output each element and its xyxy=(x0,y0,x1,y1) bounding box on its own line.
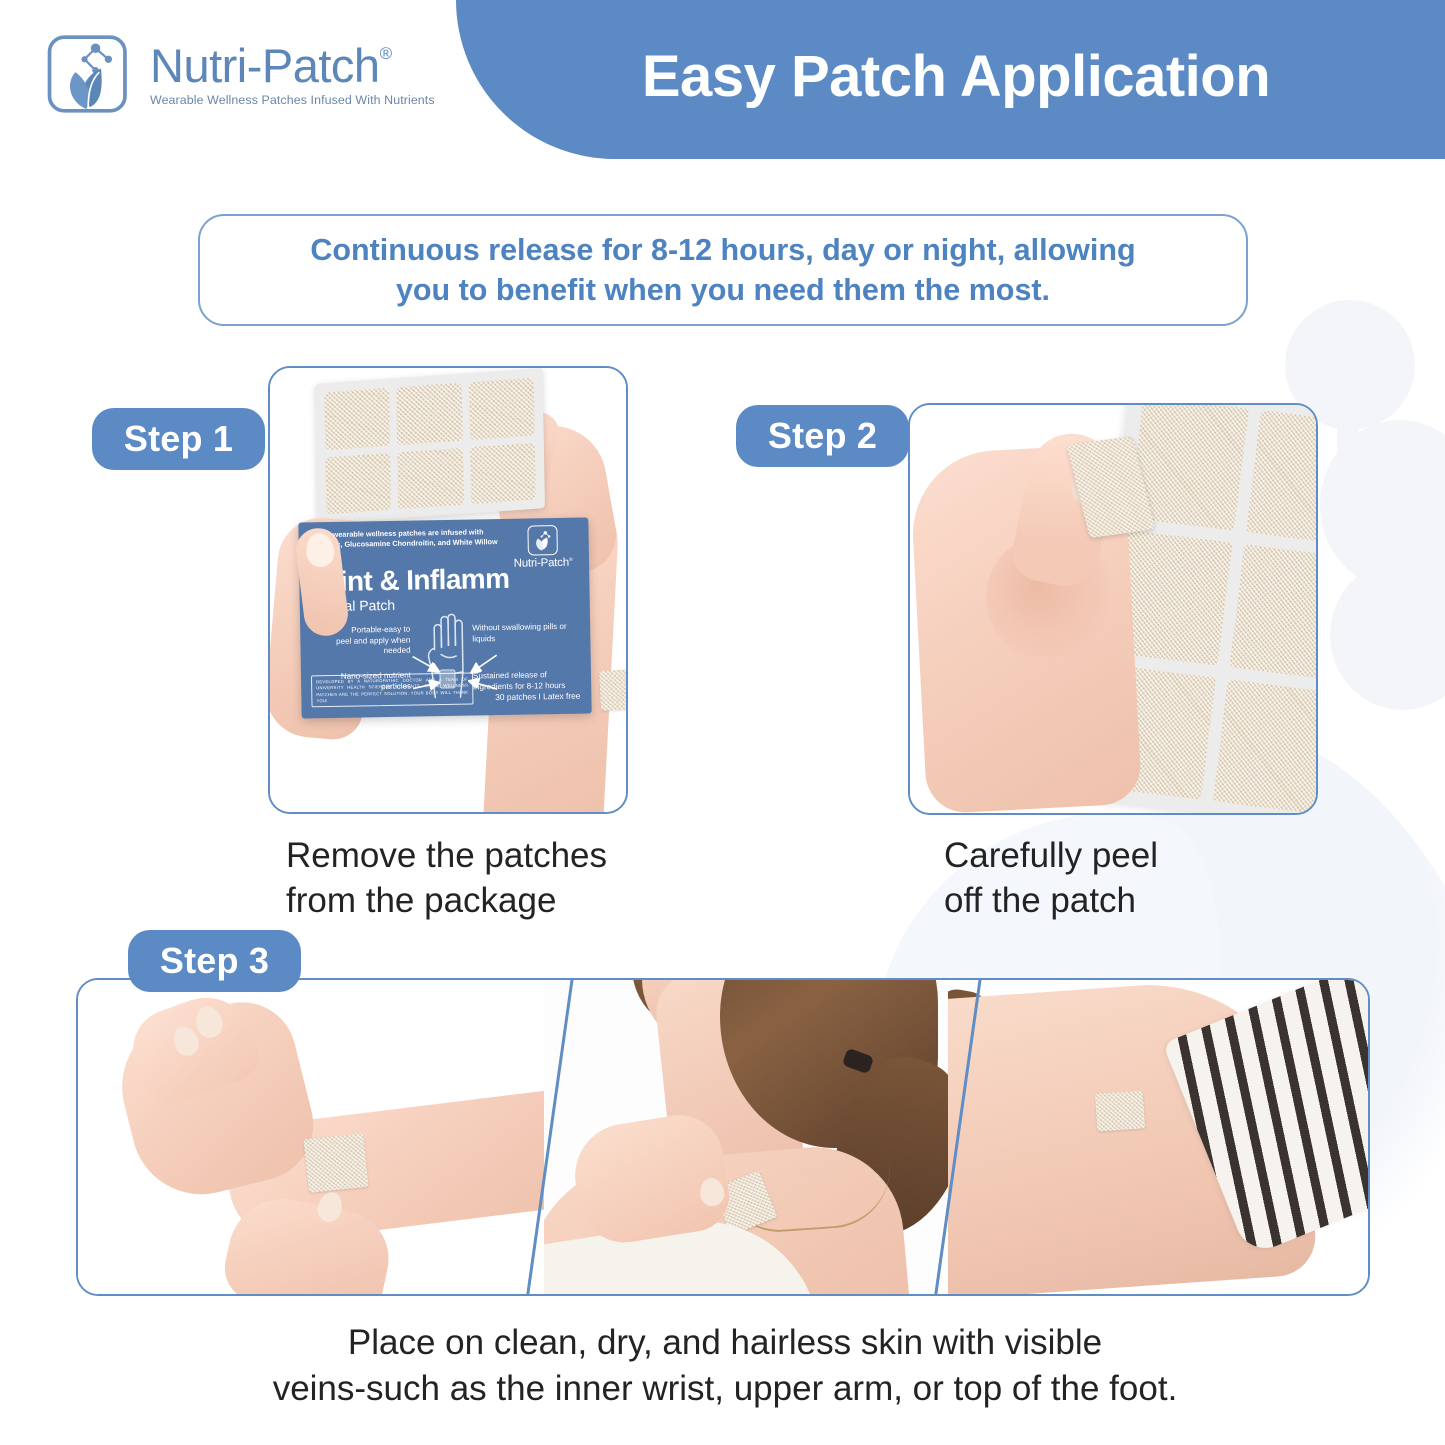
step-2-caption: Carefully peel off the patch xyxy=(944,834,1324,924)
step-3-image xyxy=(76,978,1370,1296)
patch-cell xyxy=(470,442,536,504)
molecule-watermark-node3-icon xyxy=(1330,560,1445,710)
step-2-image xyxy=(908,403,1318,815)
step-1-caption: Remove the patches from the package xyxy=(286,834,706,924)
step-3-caption: Place on clean, dry, and hairless skin w… xyxy=(120,1320,1330,1412)
step-3-panel-wrist xyxy=(78,980,544,1294)
applied-patch-on-wrist xyxy=(599,669,628,711)
brand-logo-text: Nutri-Patch® Wearable Wellness Patches I… xyxy=(150,42,435,106)
subtitle-line-1: Continuous release for 8-12 hours, day o… xyxy=(310,233,1135,267)
step-3-panel-neck xyxy=(544,980,948,1294)
step-2-caption-line-2: off the patch xyxy=(944,881,1136,920)
patch-on-upper-arm xyxy=(1095,1090,1146,1131)
step-1-badge: Step 1 xyxy=(92,408,265,470)
step-1-illustration: These wearable wellness patches are infu… xyxy=(270,368,626,812)
molecule-leaf-icon xyxy=(44,28,136,120)
patch-cell xyxy=(1246,410,1318,545)
patch-cell xyxy=(1229,545,1318,680)
patch-cell xyxy=(396,383,462,445)
patch-cell xyxy=(468,378,534,440)
subtitle-text: Continuous release for 8-12 hours, day o… xyxy=(286,230,1159,311)
molecule-watermark-node2-icon xyxy=(1320,420,1445,590)
patch-on-inner-wrist xyxy=(303,1133,368,1193)
step-1-image: These wearable wellness patches are infu… xyxy=(268,366,628,814)
step-1-caption-line-2: from the package xyxy=(286,881,556,920)
brand-name: Nutri-Patch® xyxy=(150,42,435,89)
step-3-caption-line-1: Place on clean, dry, and hairless skin w… xyxy=(348,1323,1102,1362)
package-count-text: 30 patches I Latex free xyxy=(495,691,580,702)
subtitle-callout: Continuous release for 8-12 hours, day o… xyxy=(198,214,1248,326)
step-3-caption-line-2: veins-such as the inner wrist, upper arm… xyxy=(273,1369,1178,1408)
infographic-page: Easy Patch Application Nutri-Patch® Wear… xyxy=(0,0,1445,1445)
brand-tagline: Wearable Wellness Patches Infused With N… xyxy=(150,94,435,106)
molecule-watermark-bond-icon xyxy=(1337,385,1359,455)
step-3-badge: Step 3 xyxy=(128,930,301,992)
step-3-illustration xyxy=(78,980,1368,1294)
patch-cell xyxy=(325,452,391,514)
step-2-badge: Step 2 xyxy=(736,405,909,467)
step-2-illustration xyxy=(910,405,1316,813)
page-title: Easy Patch Application xyxy=(506,29,1406,125)
patch-sheet xyxy=(315,368,545,524)
step-3-panel-upper-arm xyxy=(948,980,1368,1294)
patch-cell xyxy=(397,447,463,509)
patch-cell xyxy=(1213,679,1318,814)
package-fine-print: DEVELOPED BY A NATUROPATHIC DOCTOR AND A… xyxy=(311,673,474,708)
subtitle-line-2: you to benefit when you need them the mo… xyxy=(396,273,1050,307)
step-2-caption-line-1: Carefully peel xyxy=(944,836,1158,875)
step-1-caption-line-1: Remove the patches xyxy=(286,836,607,875)
patch-cell xyxy=(324,388,390,450)
registered-mark: ® xyxy=(380,44,392,63)
brand-logo: Nutri-Patch® Wearable Wellness Patches I… xyxy=(44,28,435,120)
